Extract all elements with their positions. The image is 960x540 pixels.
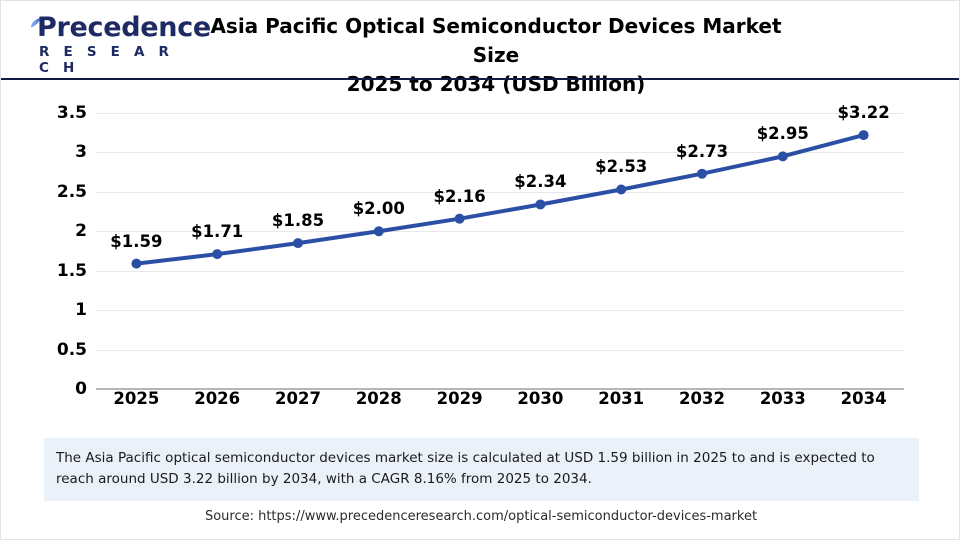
chart-plot-area: 00.511.522.533.5 $1.59$1.71$1.85$2.00$2.… xyxy=(1,80,960,420)
data-point-marker xyxy=(535,199,545,209)
x-axis-tick-label: 2025 xyxy=(113,389,159,408)
chart-page: Precedence R E S E A R C H Asia Pacific … xyxy=(0,0,960,540)
x-axis-tick-label: 2027 xyxy=(275,389,321,408)
y-axis-labels: 00.511.522.533.5 xyxy=(29,80,87,420)
data-point-label: $2.00 xyxy=(353,199,405,218)
data-point-marker xyxy=(374,226,384,236)
x-axis-tick-label: 2026 xyxy=(194,389,240,408)
x-axis-tick-label: 2028 xyxy=(356,389,402,408)
y-axis-tick-label: 1 xyxy=(29,300,87,320)
x-axis-tick-label: 2032 xyxy=(679,389,725,408)
y-axis-tick-label: 3.5 xyxy=(29,103,87,123)
data-point-marker xyxy=(131,259,141,269)
data-point-label: $2.73 xyxy=(676,142,728,161)
series-markers xyxy=(131,130,868,269)
caption-text: The Asia Pacific optical semiconductor d… xyxy=(44,438,919,501)
x-axis-tick-label: 2030 xyxy=(517,389,563,408)
logo-wordmark: Precedence xyxy=(37,13,211,43)
chart-header: Precedence R E S E A R C H Asia Pacific … xyxy=(1,1,960,79)
x-axis-labels: 2025202620272028202920302031203220332034 xyxy=(96,389,904,419)
x-axis-tick-label: 2031 xyxy=(598,389,644,408)
y-axis-tick-label: 1.5 xyxy=(29,261,87,281)
data-point-marker xyxy=(455,214,465,224)
data-point-marker xyxy=(859,130,869,140)
data-point-label: $3.22 xyxy=(837,103,889,122)
y-axis-tick-label: 0.5 xyxy=(29,340,87,360)
x-axis-tick-label: 2029 xyxy=(437,389,483,408)
data-point-label: $2.34 xyxy=(514,172,566,191)
data-point-label: $2.95 xyxy=(757,124,809,143)
x-axis-tick-label: 2034 xyxy=(841,389,887,408)
data-point-label: $2.53 xyxy=(595,157,647,176)
source-attribution: Source: https://www.precedenceresearch.c… xyxy=(1,509,960,524)
y-axis-tick-label: 3 xyxy=(29,142,87,162)
series-polyline xyxy=(136,135,863,264)
data-point-marker xyxy=(778,151,788,161)
x-axis-tick-label: 2033 xyxy=(760,389,806,408)
y-axis-tick-label: 2.5 xyxy=(29,182,87,202)
data-point-marker xyxy=(697,169,707,179)
data-point-marker xyxy=(616,184,626,194)
y-axis-tick-label: 2 xyxy=(29,221,87,241)
data-point-label: $1.59 xyxy=(110,232,162,251)
precedence-research-logo: Precedence R E S E A R C H xyxy=(15,13,175,65)
data-point-label: $2.16 xyxy=(433,187,485,206)
data-point-marker xyxy=(212,249,222,259)
data-point-label: $1.71 xyxy=(191,222,243,241)
logo-subtitle: R E S E A R C H xyxy=(39,44,175,76)
page-title-line1: Asia Pacific Optical Semiconductor Devic… xyxy=(196,12,796,70)
y-axis-tick-label: 0 xyxy=(29,379,87,399)
data-point-marker xyxy=(293,238,303,248)
data-point-label: $1.85 xyxy=(272,211,324,230)
